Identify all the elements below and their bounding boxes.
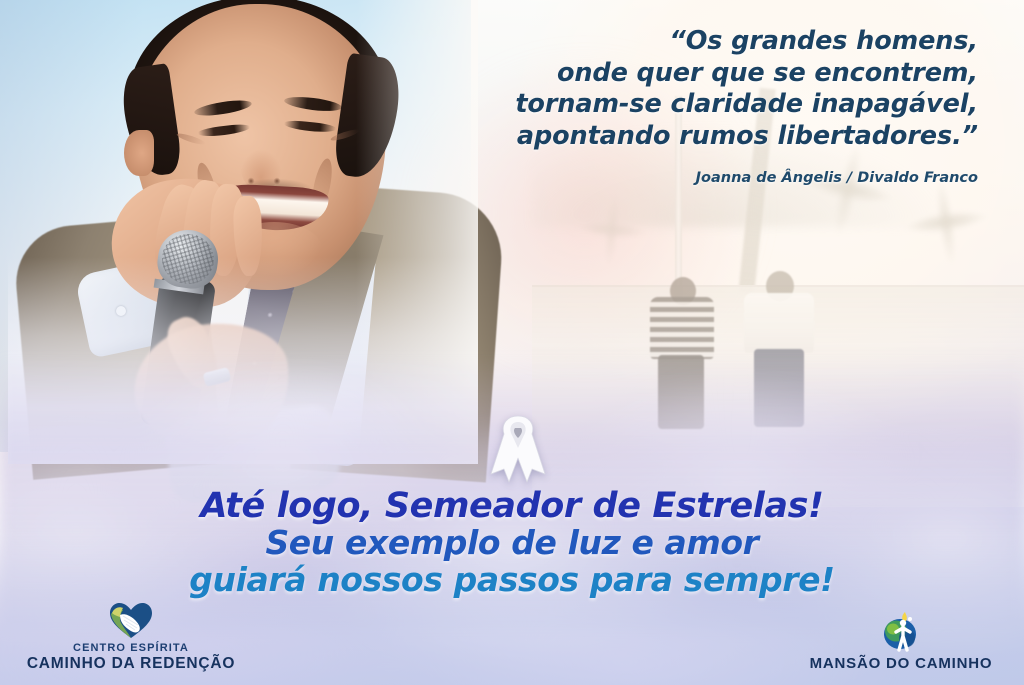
- memorial-poster: “Os grandes homens, onde quer que se enc…: [0, 0, 1024, 685]
- logo-left-line-1: CENTRO ESPÍRITA: [18, 642, 244, 655]
- quote-text: “Os grandes homens, onde quer que se enc…: [438, 26, 978, 152]
- memorial-headline: Até logo, Semeador de Estrelas! Seu exem…: [0, 487, 1024, 598]
- logo-centro-espirita: CENTRO ESPÍRITA CAMINHO DA REDENÇÃO: [18, 601, 244, 673]
- logo-left-line-2: CAMINHO DA REDENÇÃO: [18, 655, 244, 673]
- quote-line-1: “Os grandes homens,: [438, 26, 978, 58]
- heart-hands-icon: [108, 601, 154, 639]
- headline-line-2: Seu exemplo de luz e amor: [0, 525, 1024, 561]
- headline-line-1: Até logo, Semeador de Estrelas!: [0, 487, 1024, 525]
- white-ribbon-icon: [487, 412, 549, 488]
- logo-right-line-2: MANSÃO DO CAMINHO: [788, 655, 1014, 673]
- palm-tree-icon: [560, 178, 664, 282]
- ear: [124, 130, 154, 176]
- quote-line-3: tornam-se claridade inapagável,: [438, 89, 978, 121]
- logo-mansao-do-caminho: MANSÃO DO CAMINHO: [788, 612, 1014, 673]
- quote-attribution: Joanna de Ângelis / Divaldo Franco: [438, 170, 978, 186]
- globe-figure-icon: [879, 612, 923, 652]
- quote-line-4: apontando rumos libertadores.”: [438, 121, 978, 153]
- quote-line-2: onde quer que se encontrem,: [438, 58, 978, 90]
- headline-line-3: guiará nossos passos para sempre!: [0, 561, 1024, 598]
